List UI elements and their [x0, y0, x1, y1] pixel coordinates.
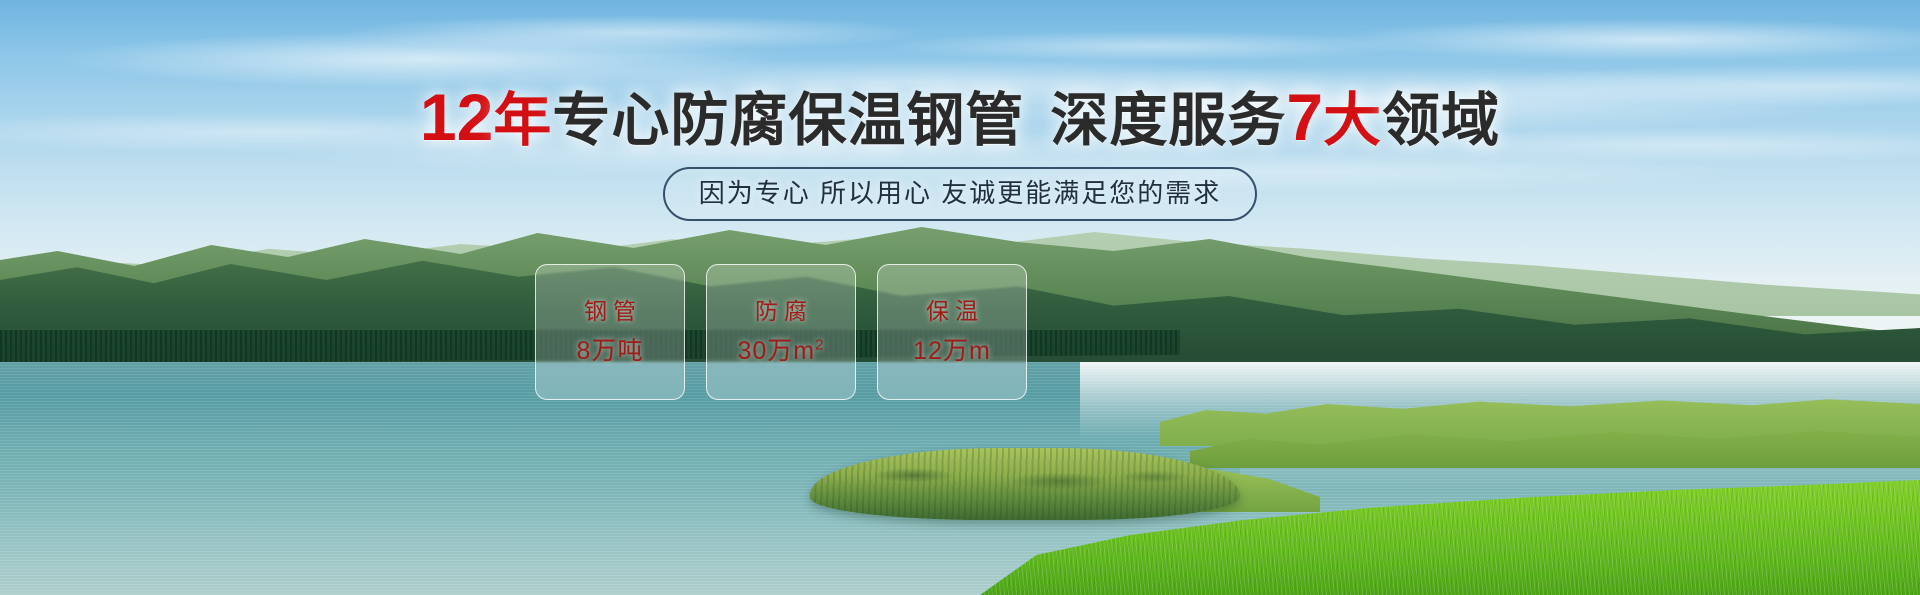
headline-part-service: 深度服务: [1050, 88, 1286, 153]
stat-card-value: 8万吨: [577, 338, 644, 365]
headline-years-number: 12: [420, 80, 493, 154]
headline-years-unit: 年: [493, 88, 552, 153]
subtitle-pill: 因为专心 所以用心 友诚更能满足您的需求: [663, 167, 1257, 221]
stat-card-value-text: 30万m: [738, 337, 816, 365]
stat-card-anticorrosion[interactable]: 防腐 30万m2: [706, 264, 856, 400]
subtitle-container: 因为专心 所以用心 友诚更能满足您的需求: [0, 167, 1920, 221]
banner-content: 12年专心防腐保温钢管深度服务7大领域 因为专心 所以用心 友诚更能满足您的需求…: [0, 0, 1920, 595]
stat-card-value-superscript: 2: [815, 337, 824, 354]
headline-part-fields: 领域: [1382, 88, 1500, 153]
stat-card-title: 钢管: [578, 299, 642, 324]
stat-card-value: 12万m: [913, 338, 991, 365]
hero-banner: 12年专心防腐保温钢管深度服务7大领域 因为专心 所以用心 友诚更能满足您的需求…: [0, 0, 1920, 595]
stat-card-group: 钢管 8万吨 防腐 30万m2 保温 12万m: [535, 264, 1027, 400]
stat-card-title: 保温: [920, 299, 984, 324]
headline-fields-unit: 大: [1323, 88, 1382, 153]
stat-card-steel-pipe[interactable]: 钢管 8万吨: [535, 264, 685, 400]
stat-card-value: 30万m2: [738, 338, 825, 365]
stat-card-title: 防腐: [749, 299, 813, 324]
stat-card-value-text: 12万m: [913, 337, 991, 365]
stat-card-insulation[interactable]: 保温 12万m: [877, 264, 1027, 400]
headline-fields-number: 7: [1286, 80, 1323, 154]
headline: 12年专心防腐保温钢管深度服务7大领域: [0, 86, 1920, 152]
headline-part-specialty: 专心防腐保温钢管: [552, 88, 1024, 153]
stat-card-value-text: 8万吨: [577, 337, 644, 365]
